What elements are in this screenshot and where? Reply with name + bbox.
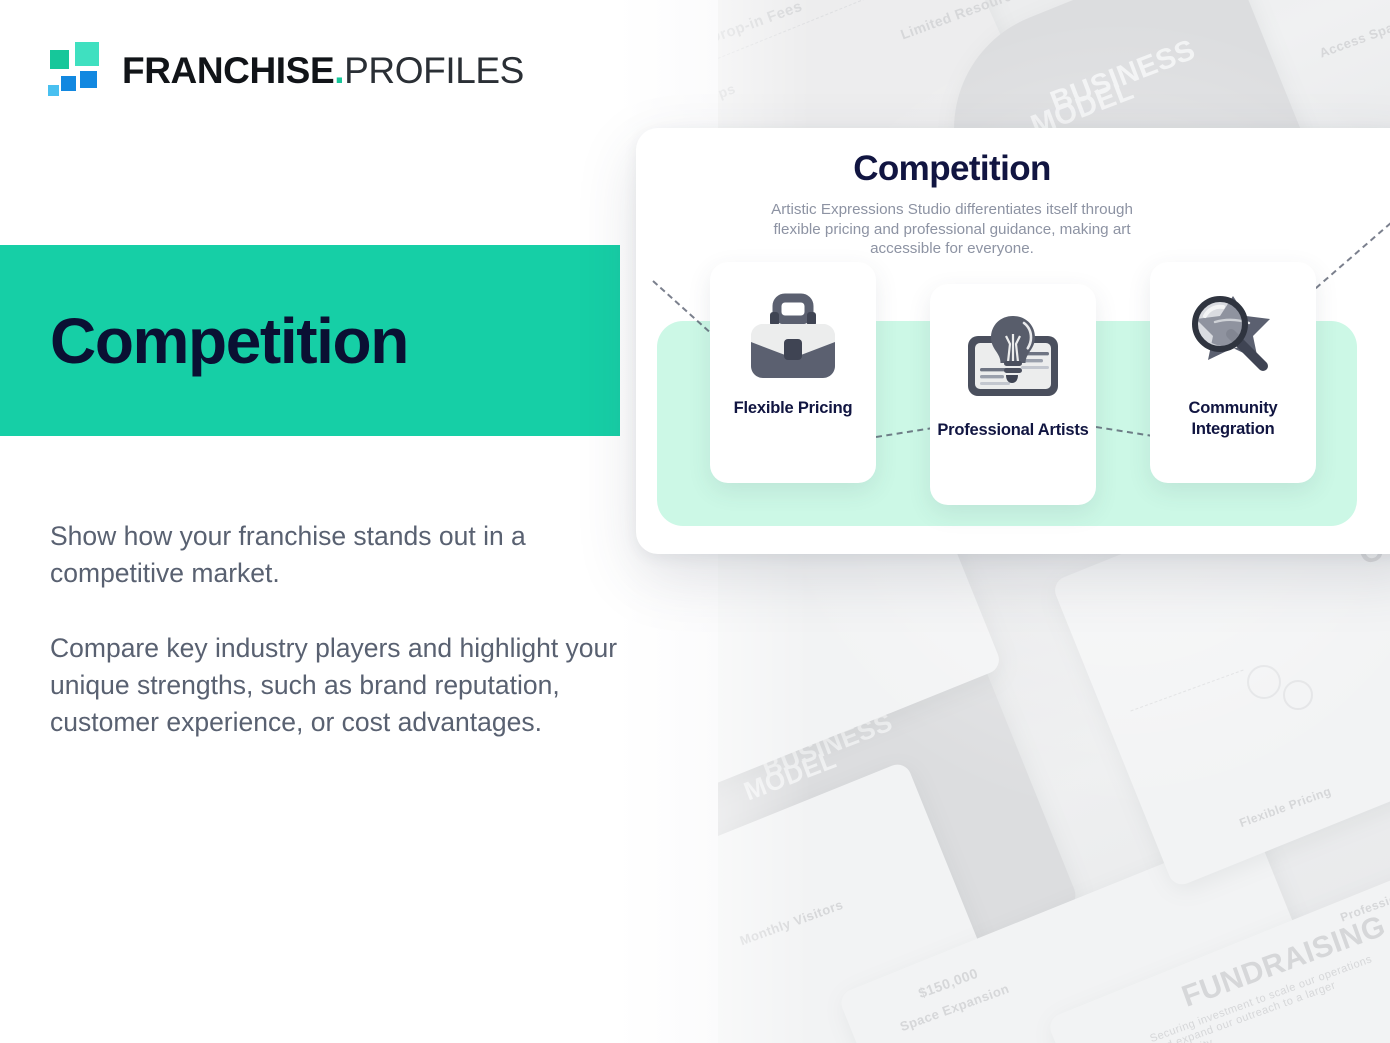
brand-logo[interactable]: FRANCHISE.PROFILES	[48, 42, 524, 98]
feature-tile-label: Community Integration	[1150, 398, 1316, 440]
slide-subtitle: Artistic Expressions Studio differentiat…	[752, 200, 1152, 259]
brand-wordmark: FRANCHISE.PROFILES	[122, 52, 524, 89]
connector-dashed-line	[1307, 216, 1390, 296]
left-content-panel: FRANCHISE.PROFILES Show how your franchi…	[0, 0, 718, 1043]
lightbulb-screen-icon	[959, 308, 1067, 412]
feature-tile-label: Flexible Pricing	[734, 398, 853, 419]
feature-tile-flexible-pricing[interactable]: Flexible Pricing	[710, 262, 876, 483]
slide-preview-page: Drop-in Fees Session Workshops Commissio…	[0, 0, 1390, 1043]
description-paragraph-2: Compare key industry players and highlig…	[50, 630, 630, 741]
logo-squares-icon	[48, 42, 104, 98]
star-magnifier-icon	[1179, 286, 1287, 390]
brand-name-dot: .	[334, 50, 344, 91]
section-heading-band: Competition	[0, 245, 620, 436]
section-description: Show how your franchise stands out in a …	[50, 518, 630, 741]
page-title: Competition	[50, 309, 408, 373]
brand-name-thin: PROFILES	[344, 50, 524, 91]
description-paragraph-1: Show how your franchise stands out in a …	[50, 518, 630, 592]
feature-tile-professional-artists[interactable]: Professional Artists	[930, 284, 1096, 505]
slide-title: Competition	[636, 149, 1268, 189]
briefcase-icon	[739, 286, 847, 390]
feature-tile-community-integration[interactable]: Community Integration	[1150, 262, 1316, 483]
competition-slide-card[interactable]: Competition Artistic Expressions Studio …	[636, 128, 1390, 554]
feature-tile-label: Professional Artists	[937, 420, 1088, 441]
brand-name-bold: FRANCHISE	[122, 50, 334, 91]
